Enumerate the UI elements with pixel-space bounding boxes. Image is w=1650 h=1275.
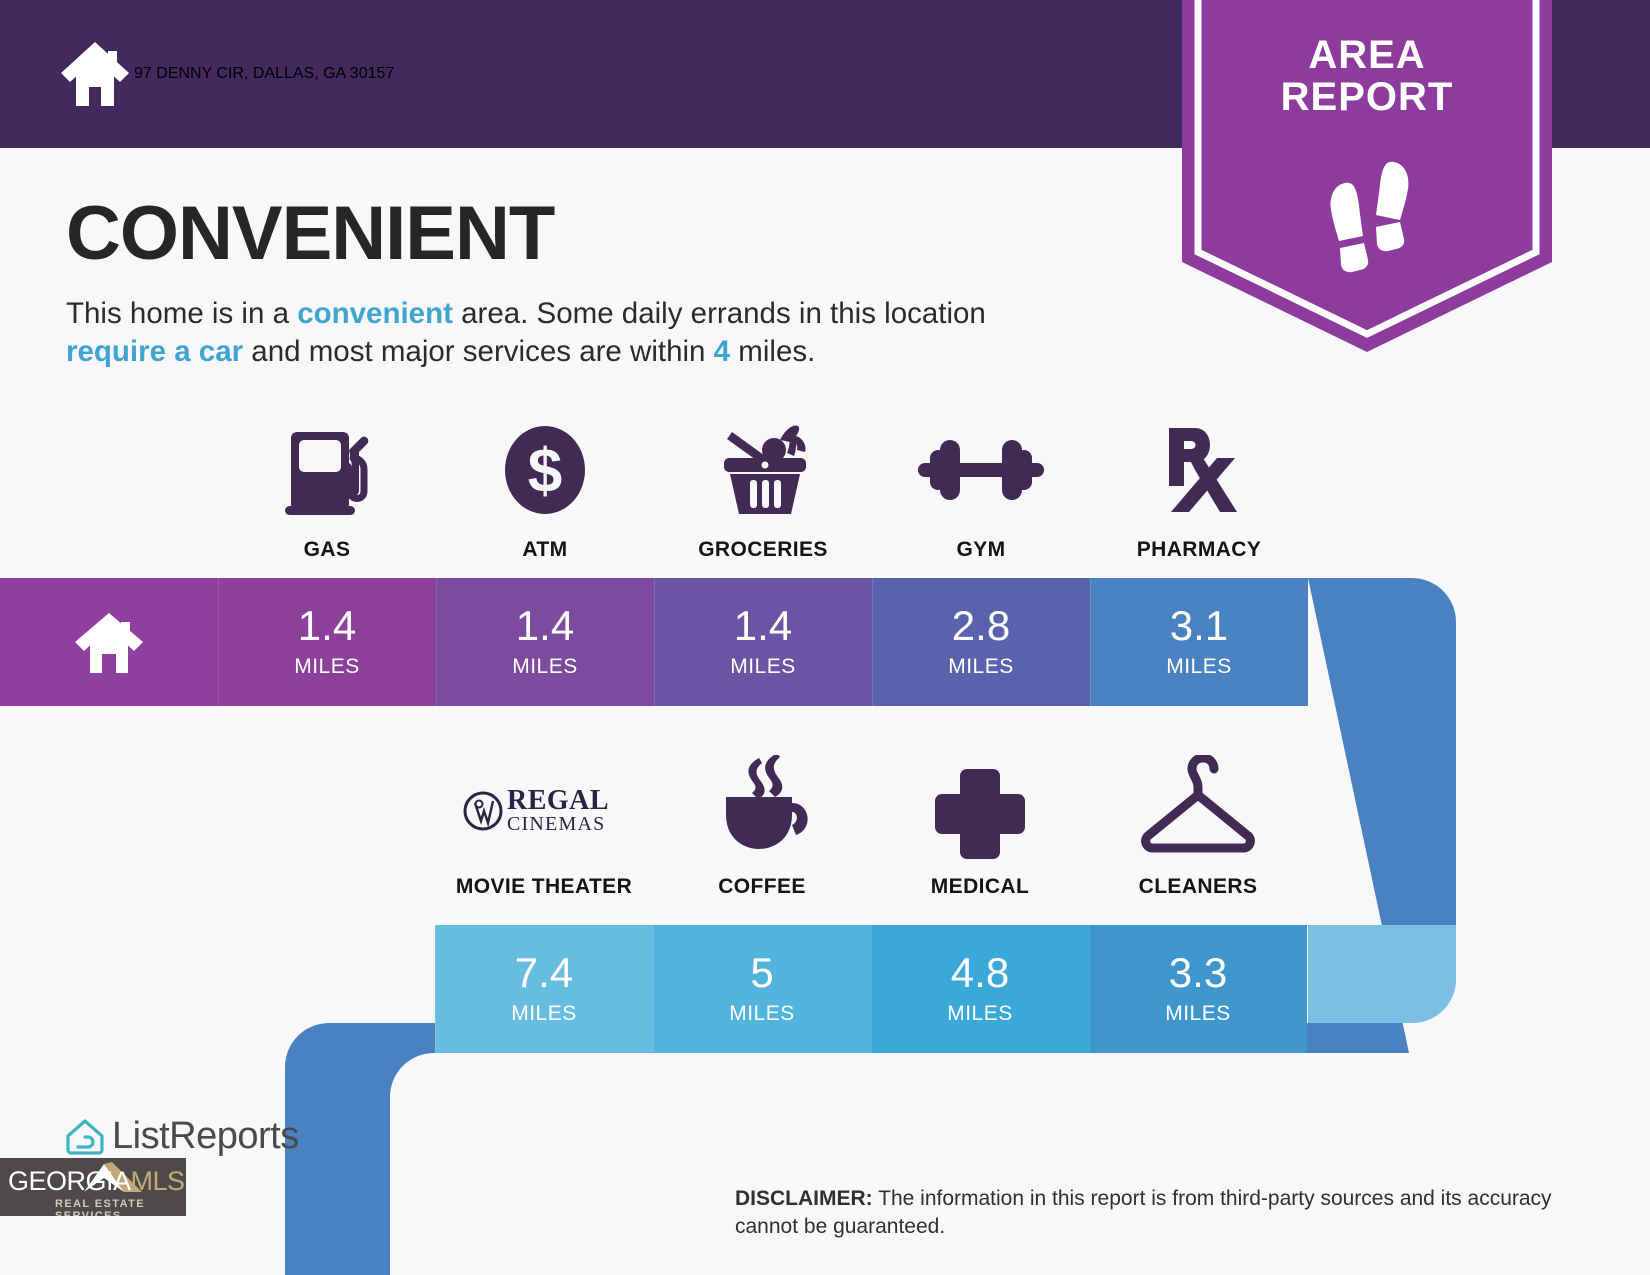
- medical-cross-icon: [928, 755, 1032, 859]
- distance-bar-top-row: 1.4 MILES 1.4 MILES 1.4 MILES 2.8 MILES …: [0, 578, 1308, 706]
- distance-cell-pharmacy: 3.1 MILES: [1090, 578, 1308, 706]
- distance-value: 2.8: [952, 605, 1010, 647]
- amenity-label: MOVIE THEATER: [456, 875, 632, 899]
- house-icon: [71, 609, 147, 675]
- summary-part-4: miles.: [730, 335, 815, 368]
- mls-brand-georgia: GEORGIA: [8, 1166, 131, 1196]
- distance-cell-medical: 4.8 MILES: [871, 925, 1089, 1053]
- summary-highlight-3: 4: [714, 335, 730, 368]
- distance-unit: MILES: [948, 655, 1014, 679]
- distance-cell-movie-theater: 7.4 MILES: [435, 925, 653, 1053]
- gas-pump-icon: [275, 418, 379, 522]
- home-marker-cell: [0, 578, 218, 706]
- grocery-basket-icon: [708, 418, 818, 522]
- distance-bar-bottom-row: 7.4 MILES 5 MILES 4.8 MILES 3.3 MILES: [435, 925, 1307, 1053]
- amenity-label: GROCERIES: [698, 538, 828, 562]
- summary-part-1: This home is in a: [66, 297, 297, 330]
- distance-cell-gym: 2.8 MILES: [872, 578, 1090, 706]
- distance-value: 1.4: [734, 605, 792, 647]
- amenity-coffee: COFFEE: [653, 755, 871, 899]
- amenity-groceries: GROCERIES: [654, 418, 872, 562]
- distance-unit: MILES: [294, 655, 360, 679]
- listreports-wordmark: ListReports: [112, 1115, 299, 1158]
- amenity-label: PHARMACY: [1137, 538, 1262, 562]
- distance-unit: MILES: [729, 1002, 795, 1026]
- area-report-banner: AREA REPORT: [1182, 0, 1552, 352]
- mls-wordmark: GEORGIAMLS: [8, 1166, 185, 1197]
- amenity-label: GYM: [956, 538, 1005, 562]
- listreports-house-icon: [64, 1116, 106, 1158]
- distance-cell-cleaners: 3.3 MILES: [1089, 925, 1307, 1053]
- regal-cinemas-logo: REGAL CINEMAS: [459, 755, 629, 859]
- mls-tagline: REAL ESTATE SERVICES: [55, 1198, 186, 1216]
- summary-highlight-2: require a car: [66, 335, 243, 368]
- distance-cell-coffee: 5 MILES: [653, 925, 871, 1053]
- amenity-label: MEDICAL: [931, 875, 1029, 899]
- summary-part-2: area. Some daily errands in this locatio…: [453, 297, 986, 330]
- distance-value: 1.4: [516, 605, 574, 647]
- page-title: CONVENIENT: [66, 190, 554, 277]
- summary-highlight-1: convenient: [297, 297, 453, 330]
- amenity-cleaners: CLEANERS: [1089, 755, 1307, 899]
- amenity-gas: GAS: [218, 418, 436, 562]
- amenity-label: CLEANERS: [1139, 875, 1258, 899]
- distance-cell-gas: 1.4 MILES: [218, 578, 436, 706]
- svg-text:CINEMAS: CINEMAS: [507, 813, 605, 835]
- header-address: 97 DENNY CIR, DALLAS, GA 30157: [134, 65, 394, 83]
- banner-shield-shape: [1182, 0, 1552, 352]
- dumbbell-icon: [916, 418, 1046, 522]
- amenity-gym: GYM: [872, 418, 1090, 562]
- area-report-infographic: 97 DENNY CIR, DALLAS, GA 30157 AREA REPO…: [0, 0, 1650, 1275]
- summary-part-3: and most major services are within: [243, 335, 714, 368]
- dollar-circle-icon: $: [493, 418, 597, 522]
- mls-brand-mls: MLS: [131, 1166, 185, 1196]
- amenity-icons-bottom-row: REGAL CINEMAS MOVIE THEATER COFF: [435, 755, 1307, 899]
- georgia-mls-badge: GEORGIAMLS REAL ESTATE SERVICES: [0, 1158, 186, 1216]
- distance-value: 3.1: [1170, 605, 1228, 647]
- distance-value: 1.4: [298, 605, 356, 647]
- svg-text:$: $: [528, 437, 562, 506]
- amenity-label: COFFEE: [718, 875, 806, 899]
- rx-icon: [1147, 418, 1251, 522]
- distance-value: 3.3: [1169, 952, 1227, 994]
- clothes-hanger-icon: [1135, 755, 1261, 859]
- distance-unit: MILES: [1166, 655, 1232, 679]
- house-icon: [56, 39, 134, 109]
- distance-value: 7.4: [515, 952, 573, 994]
- listreports-logo: ListReports: [64, 1115, 299, 1158]
- amenity-icons-top-row: GAS $ ATM: [218, 418, 1308, 562]
- distance-unit: MILES: [1165, 1002, 1231, 1026]
- coffee-cup-icon: [706, 755, 818, 859]
- distance-unit: MILES: [947, 1002, 1013, 1026]
- amenity-pharmacy: PHARMACY: [1090, 418, 1308, 562]
- distance-unit: MILES: [512, 655, 578, 679]
- distance-value: 4.8: [951, 952, 1009, 994]
- distance-cell-groceries: 1.4 MILES: [654, 578, 872, 706]
- amenity-atm: $ ATM: [436, 418, 654, 562]
- summary-text: This home is in a convenient area. Some …: [66, 295, 1076, 371]
- amenity-movie-theater: REGAL CINEMAS MOVIE THEATER: [435, 755, 653, 899]
- amenity-medical: MEDICAL: [871, 755, 1089, 899]
- amenity-label: ATM: [522, 538, 567, 562]
- distance-unit: MILES: [730, 655, 796, 679]
- disclaimer: DISCLAIMER: The information in this repo…: [735, 1185, 1595, 1240]
- bottom-white-panel: [390, 1053, 1650, 1275]
- distance-unit: MILES: [511, 1002, 577, 1026]
- distance-cell-atm: 1.4 MILES: [436, 578, 654, 706]
- svg-text:REGAL: REGAL: [507, 785, 609, 816]
- amenity-label: GAS: [304, 538, 351, 562]
- distance-value: 5: [750, 952, 773, 994]
- disclaimer-label: DISCLAIMER:: [735, 1187, 873, 1210]
